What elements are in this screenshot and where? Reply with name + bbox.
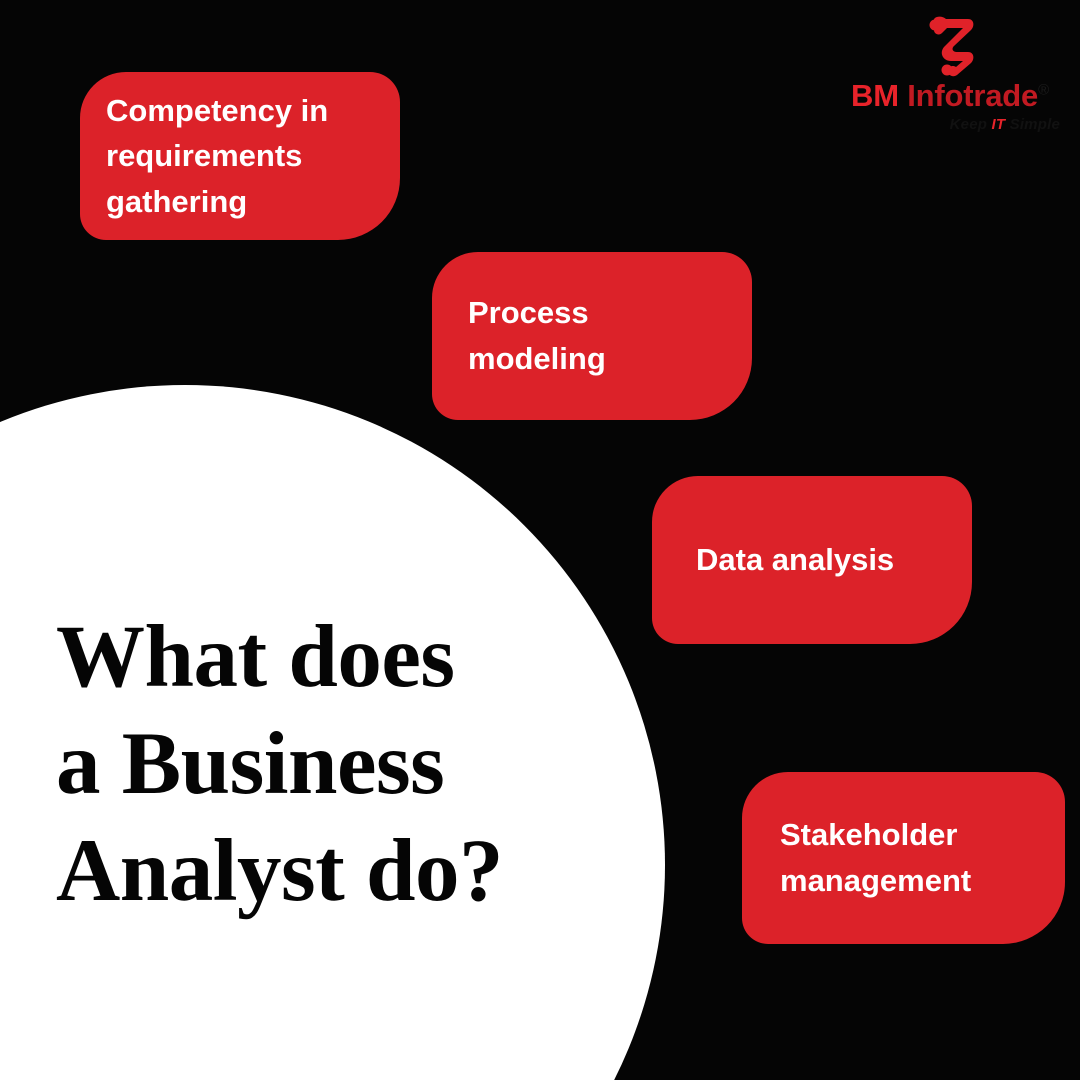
skill-card-line-2: modeling: [468, 336, 716, 382]
tagline-keep: Keep: [950, 116, 987, 133]
skill-card-process-modeling[interactable]: Process modeling: [432, 252, 752, 420]
skill-card-label: Process modeling: [468, 290, 716, 381]
page-title: What does a Business Analyst do?: [56, 604, 616, 924]
brand-tagline: Keep IT Simple: [834, 116, 1060, 133]
headline-line-1: What does: [56, 604, 616, 711]
poster-canvas: BM Infotrade® Keep IT Simple Competency …: [0, 0, 1080, 1080]
tagline-simple: Simple: [1010, 116, 1060, 133]
skill-card-line-1: Process: [468, 290, 716, 336]
skill-card-stakeholder-management[interactable]: Stakeholder management: [742, 772, 1065, 944]
brand-name-infotrade: Infotrade: [907, 78, 1038, 113]
headline-line-2: a Business: [56, 711, 616, 818]
bm-logo-mark-icon: [918, 12, 982, 78]
skill-card-line-1: Data analysis: [696, 537, 928, 583]
skill-card-competency-in-requirements-gathering[interactable]: Competency in requirements gathering: [80, 72, 400, 240]
skill-card-line-2: management: [780, 858, 1027, 904]
brand-wordmark: BM Infotrade®: [834, 80, 1066, 113]
headline-line-3: Analyst do?: [56, 818, 616, 925]
skill-card-line-1: Competency in: [106, 88, 374, 134]
brand-logo[interactable]: BM Infotrade® Keep IT Simple: [834, 12, 1066, 160]
skill-card-data-analysis[interactable]: Data analysis: [652, 476, 972, 644]
skill-card-label: Data analysis: [696, 537, 928, 583]
skill-card-label: Stakeholder management: [780, 812, 1027, 903]
skill-card-line-2: requirements: [106, 133, 374, 179]
tagline-it: IT: [992, 116, 1006, 133]
brand-name-bm: BM: [851, 78, 899, 113]
skill-card-label: Competency in requirements gathering: [106, 88, 374, 225]
skill-card-line-1: Stakeholder: [780, 812, 1027, 858]
registered-trademark-icon: ®: [1038, 82, 1049, 99]
skill-card-line-3: gathering: [106, 179, 374, 225]
